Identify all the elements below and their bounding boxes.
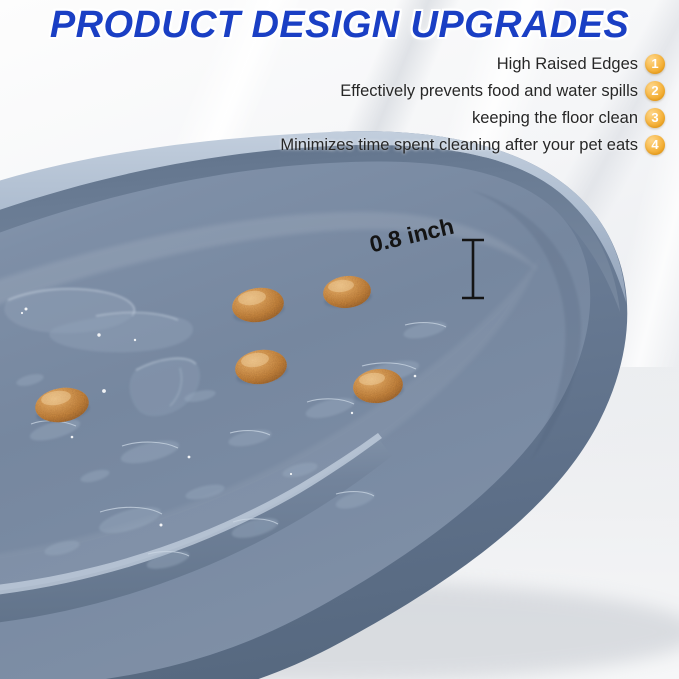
- feature-number-badge: 1: [645, 54, 665, 74]
- feature-number-badge: 4: [645, 135, 665, 155]
- product-marketing-image: PRODUCT DESIGN UPGRADES High Raised Edge…: [0, 0, 679, 679]
- list-item: Effectively prevents food and water spil…: [105, 79, 665, 103]
- feature-label: Effectively prevents food and water spil…: [340, 82, 638, 101]
- background-floor: [0, 367, 679, 679]
- feature-number-badge: 2: [645, 81, 665, 101]
- list-item: keeping the floor clean 3: [105, 106, 665, 130]
- feature-label: Minimizes time spent cleaning after your…: [280, 136, 638, 155]
- feature-list: High Raised Edges 1 Effectively prevents…: [105, 52, 665, 157]
- list-item: Minimizes time spent cleaning after your…: [105, 133, 665, 157]
- page-title: PRODUCT DESIGN UPGRADES: [0, 4, 679, 47]
- list-item: High Raised Edges 1: [105, 52, 665, 76]
- feature-number-badge: 3: [645, 108, 665, 128]
- feature-label: High Raised Edges: [497, 55, 638, 74]
- feature-label: keeping the floor clean: [472, 109, 638, 128]
